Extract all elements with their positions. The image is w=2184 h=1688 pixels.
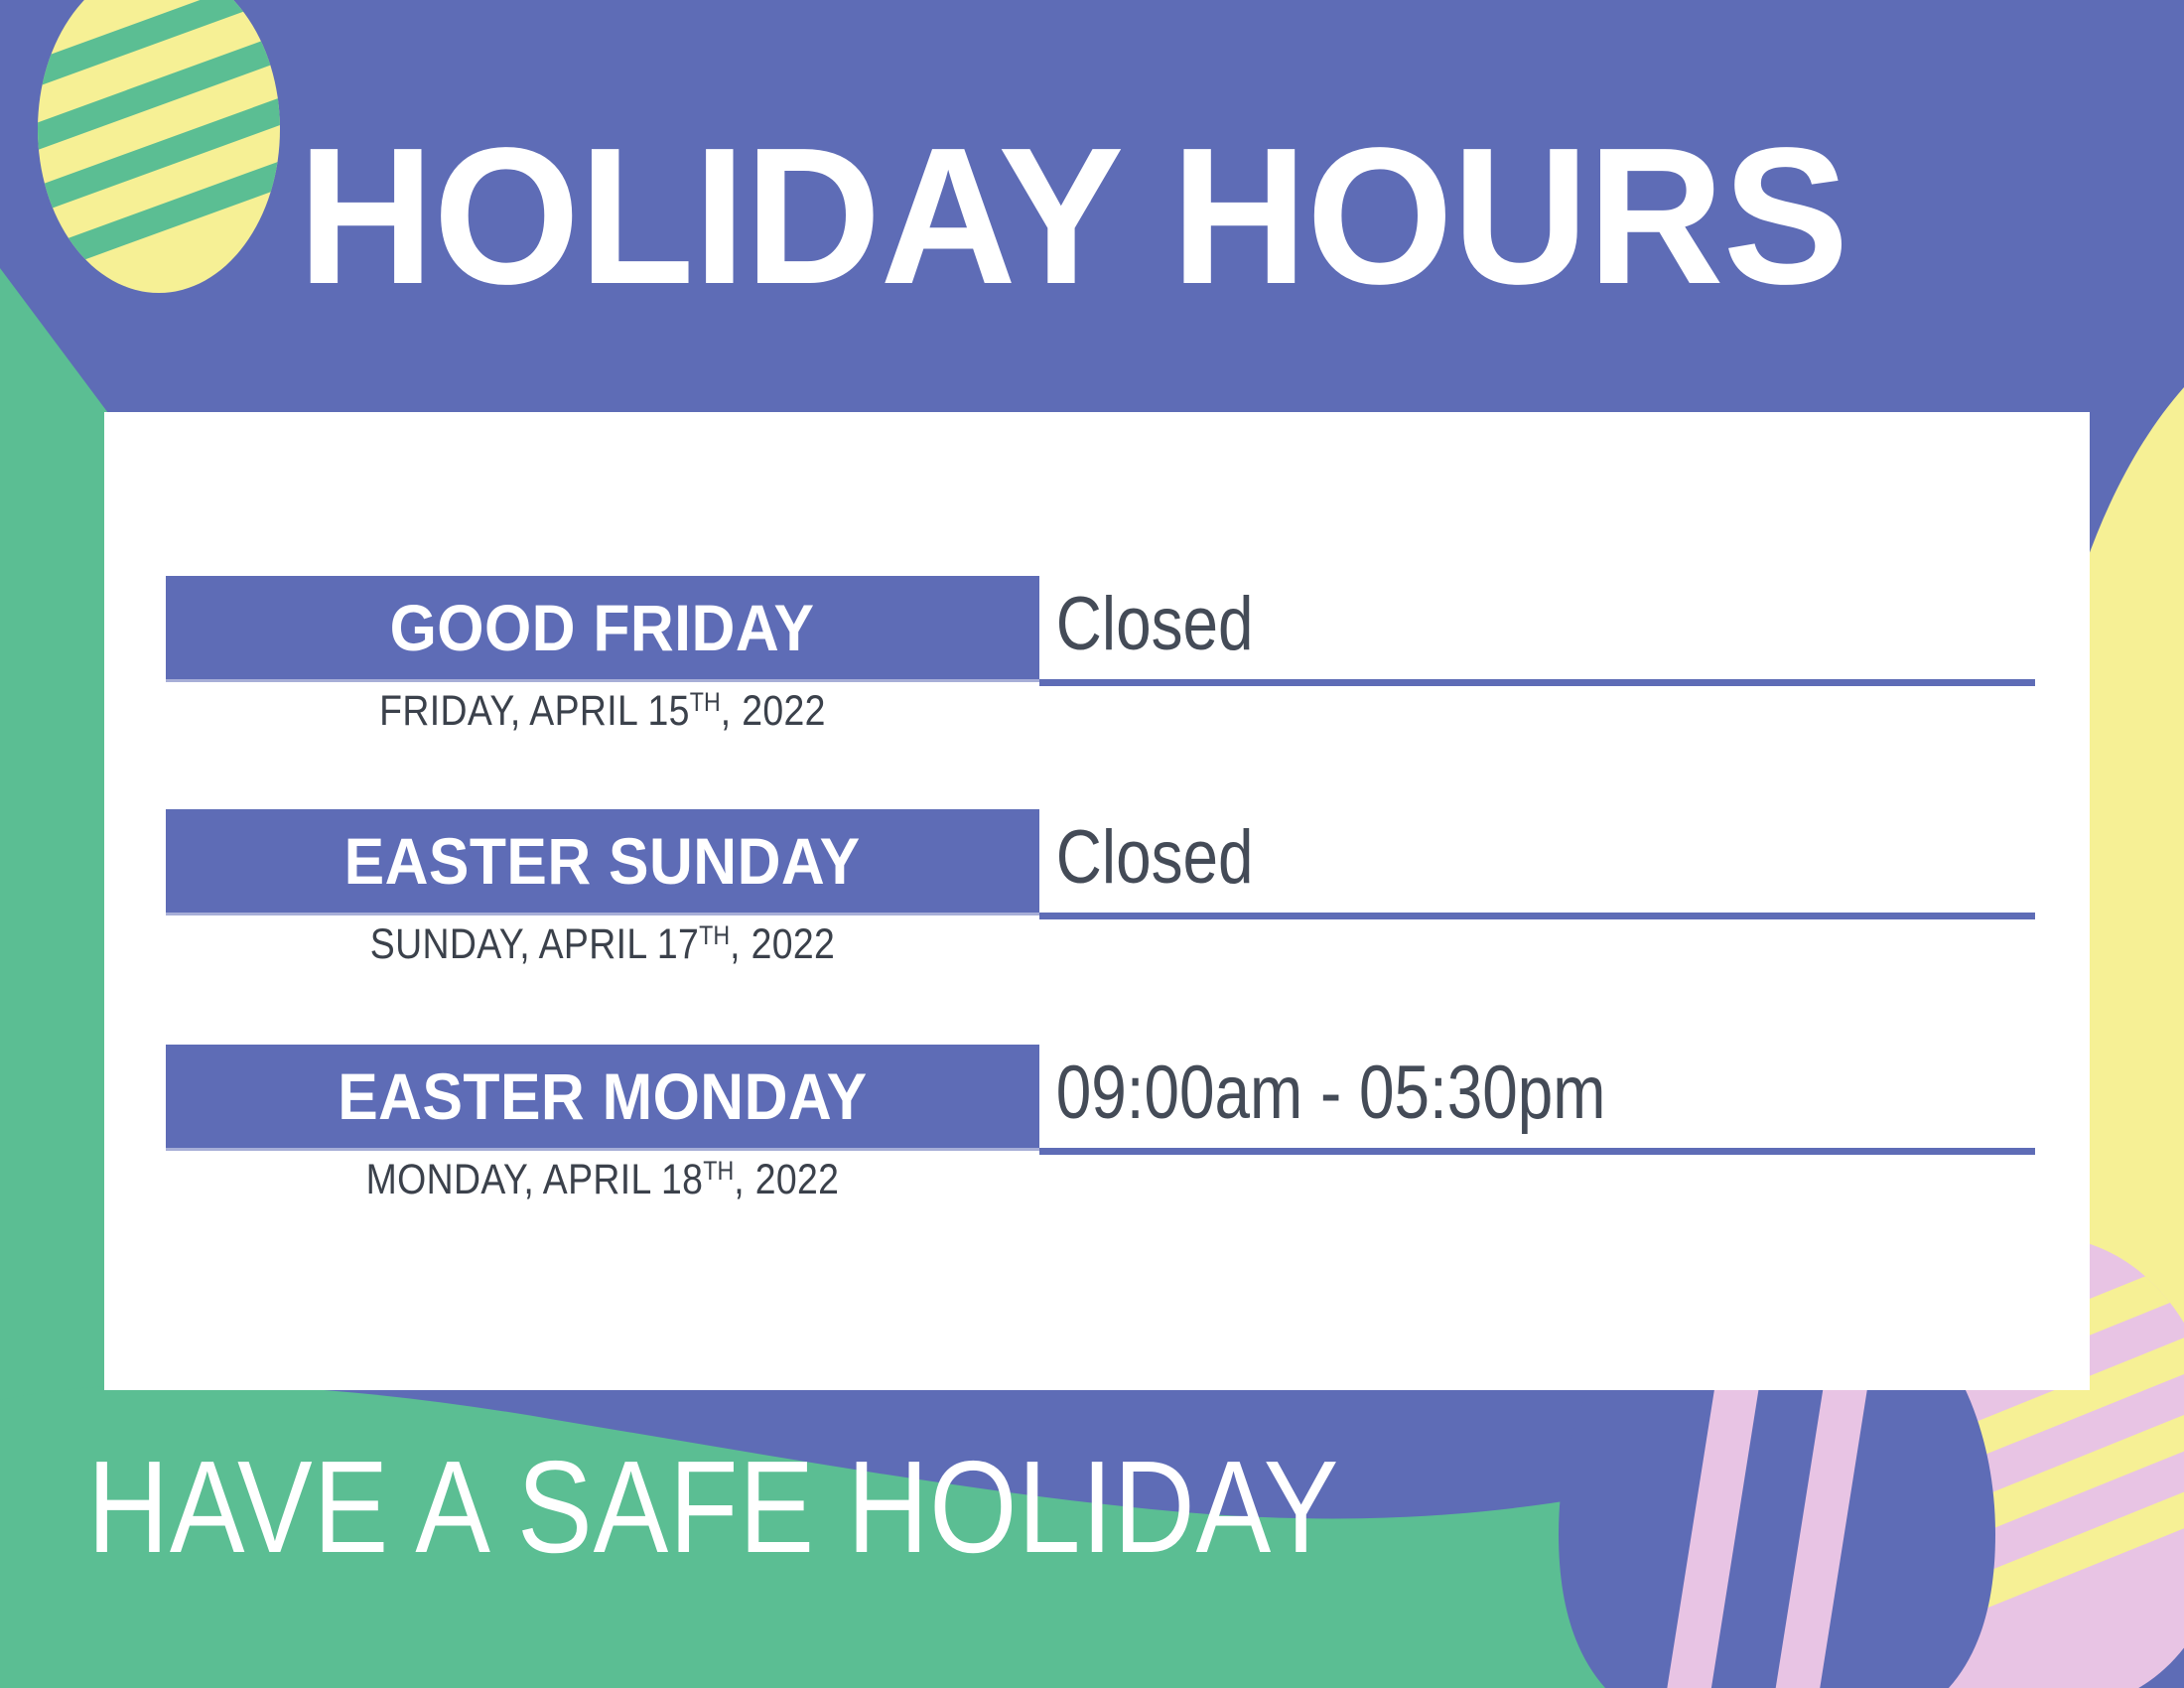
table-row: GOOD FRIDAY Closed FRIDAY, APRIL 15TH, 2… [104,576,2090,679]
holiday-date: FRIDAY, APRIL 15TH, 2022 [222,687,983,736]
holiday-date-prefix: FRIDAY, APRIL 15 [379,687,690,735]
row-divider [166,913,1039,915]
holiday-date: MONDAY, APRIL 18TH, 2022 [222,1156,983,1204]
holiday-name-bar: EASTER SUNDAY [166,809,1039,913]
holiday-hours-poster: HOLIDAY HOURS GOOD FRIDAY Closed FRIDAY,… [0,0,2184,1688]
holiday-date-ordinal: TH [690,687,721,717]
page-title: HOLIDAY HOURS [298,117,1935,316]
table-row: EASTER MONDAY 09:00am - 05:30pm MONDAY, … [104,1045,2090,1148]
holiday-date-suffix: , 2022 [730,920,835,968]
holiday-name-bar: EASTER MONDAY [166,1045,1039,1148]
footer-message: HAVE A SAFE HOLIDAY [87,1442,1339,1573]
holiday-hours: Closed [1039,587,1254,668]
holiday-hours-cell: Closed [1039,809,2035,919]
holiday-date-suffix: , 2022 [721,687,826,735]
holiday-date-prefix: SUNDAY, APRIL 17 [370,920,699,968]
schedule-rows: GOOD FRIDAY Closed FRIDAY, APRIL 15TH, 2… [104,412,2090,1390]
holiday-date-suffix: , 2022 [734,1156,839,1203]
holiday-date: SUNDAY, APRIL 17TH, 2022 [222,920,983,969]
holiday-name: GOOD FRIDAY [390,590,815,665]
holiday-hours-cell: 09:00am - 05:30pm [1039,1045,2035,1155]
row-divider [166,1148,1039,1151]
holiday-date-ordinal: TH [703,1156,734,1186]
table-row: EASTER SUNDAY Closed SUNDAY, APRIL 17TH,… [104,809,2090,913]
holiday-name: EASTER SUNDAY [344,823,861,899]
row-divider [166,679,1039,682]
holiday-date-prefix: MONDAY, APRIL 18 [366,1156,704,1203]
holiday-date-ordinal: TH [699,920,730,950]
holiday-hours: Closed [1039,820,1254,902]
holiday-name-bar: GOOD FRIDAY [166,576,1039,679]
holiday-name: EASTER MONDAY [338,1058,867,1134]
holiday-hours: 09:00am - 05:30pm [1039,1055,1605,1137]
holiday-hours-cell: Closed [1039,576,2035,686]
